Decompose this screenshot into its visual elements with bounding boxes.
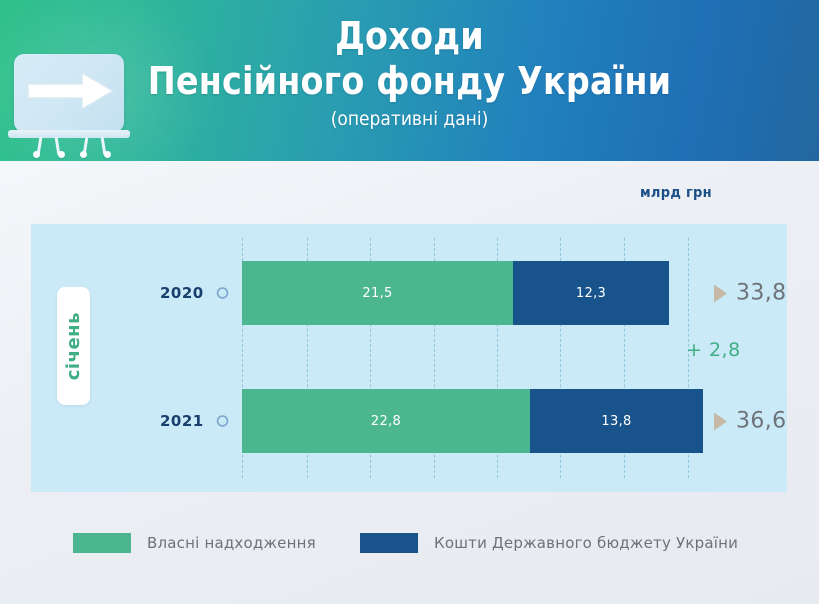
legend-swatch-state [360,533,418,553]
hollow-circle-marker-icon [216,287,229,300]
logo-wheel [104,151,111,158]
period-tab-month: січень [57,287,90,405]
row-total-value: 36,6 [736,409,787,434]
row-total-2021: 36,6 [714,409,787,434]
row-year-label: 2021 [160,412,204,430]
delta-value: + 2,8 [686,339,741,361]
page-subtitle: (оперативні дані) [41,104,778,134]
chart-panel: 2020 21,5 12,3 33,8 2021 22,8 13,8 [31,224,787,492]
chart-row-2021: 2021 22,8 13,8 36,6 [31,382,787,460]
logo-wheel [80,151,87,158]
stacked-bar-2021: 22,8 13,8 [242,389,703,453]
bar-segment-state-2021: 13,8 [530,389,703,453]
row-total-2020: 33,8 [714,281,787,306]
page-title-line1: Доходи [49,14,770,58]
bar-segment-own-2020: 21,5 [242,261,513,325]
bar-segment-own-2021: 22,8 [242,389,530,453]
triangle-right-icon [714,412,727,430]
logo-wheel [33,151,40,158]
header-banner: Доходи Пенсійного фонду України (операти… [0,0,819,161]
period-tab-label: січень [63,312,84,380]
bar-segment-state-2020: 12,3 [513,261,669,325]
logo-wheel [58,151,65,158]
chart-legend: Власні надходження Кошти Державного бюдж… [0,533,819,561]
chart-row-2020: 2020 21,5 12,3 33,8 [31,254,787,332]
triangle-right-icon [714,284,727,302]
page-title-line2: Пенсійного фонду України [49,58,770,104]
legend-item-state: Кошти Державного бюджету України [360,533,738,553]
title-block: Доходи Пенсійного фонду України (операти… [0,14,819,134]
legend-item-own: Власні надходження [73,533,316,553]
stacked-bar-2020: 21,5 12,3 [242,261,669,325]
legend-swatch-own [73,533,131,553]
hollow-circle-marker-icon [216,415,229,428]
infographic-page: Доходи Пенсійного фонду України (операти… [0,0,819,604]
legend-label-own: Власні надходження [147,534,316,552]
row-year-label: 2020 [160,284,204,302]
unit-label: млрд грн [640,185,712,201]
legend-label-state: Кошти Державного бюджету України [434,534,738,552]
row-total-value: 33,8 [736,281,787,306]
